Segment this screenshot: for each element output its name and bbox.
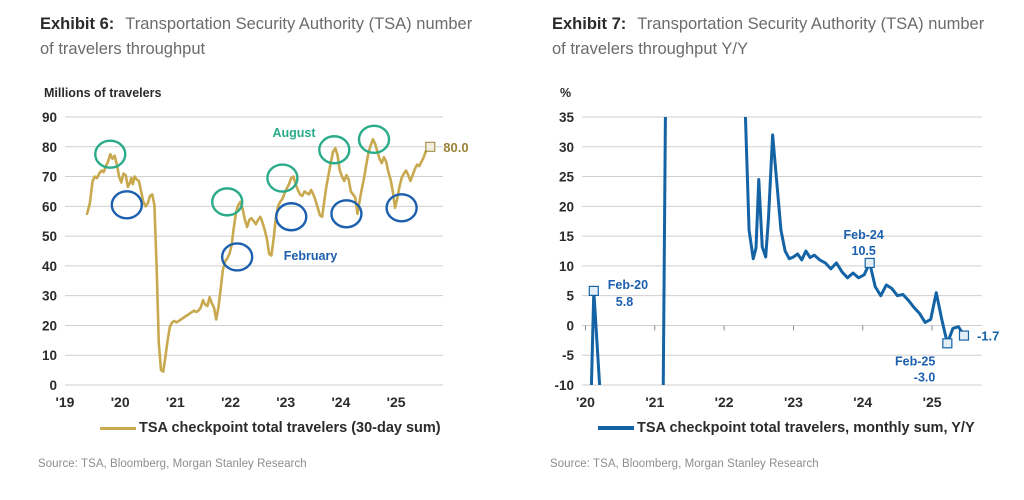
svg-text:0: 0 — [566, 318, 574, 333]
svg-text:10: 10 — [559, 259, 574, 274]
exhibit-6-august-markers — [95, 126, 389, 216]
exhibit-7-y-tick-labels: -10-505101520253035 — [554, 110, 574, 393]
exhibit-7-x-tick-labels: '20'21'22'23'24'25 — [576, 394, 942, 410]
exhibit-6-panel: Exhibit 6:Transportation Security Author… — [0, 0, 512, 500]
svg-text:'25: '25 — [923, 394, 942, 410]
svg-text:15: 15 — [559, 229, 575, 244]
exhibit-6-end-marker — [426, 142, 435, 151]
svg-text:'21: '21 — [645, 394, 664, 410]
exhibit-6-gridlines — [65, 117, 443, 385]
svg-text:0: 0 — [49, 378, 57, 393]
exhibit-7-data-line — [591, 57, 964, 402]
svg-text:'25: '25 — [387, 394, 406, 410]
svg-text:'20: '20 — [111, 394, 130, 410]
exhibit-7-end-value: -1.7 — [977, 329, 999, 344]
svg-text:30: 30 — [559, 140, 574, 155]
exhibit-6-data-line — [87, 139, 428, 371]
svg-text:'24: '24 — [853, 394, 872, 410]
svg-text:'21: '21 — [166, 394, 185, 410]
exhibit-7-legend-label: TSA checkpoint total travelers, monthly … — [637, 420, 975, 436]
exhibit-7-end-marker — [959, 331, 968, 340]
exhibit-7-source: Source: TSA, Bloomberg, Morgan Stanley R… — [550, 458, 819, 470]
exhibit-6-august-annotation: August — [272, 126, 316, 140]
svg-text:'22: '22 — [715, 394, 734, 410]
svg-text:80: 80 — [42, 140, 57, 155]
exhibit-7-legend: TSA checkpoint total travelers, monthly … — [598, 420, 975, 436]
exhibit-6-legend: TSA checkpoint total travelers (30-day s… — [100, 420, 441, 436]
svg-text:10.5: 10.5 — [852, 244, 876, 258]
svg-text:60: 60 — [42, 199, 57, 214]
exhibit-7-legend-swatch-icon — [598, 426, 634, 430]
exhibit-6-end-value: 80.0 — [443, 140, 468, 155]
svg-text:35: 35 — [559, 110, 575, 125]
exhibit-7-x-tick-marks — [585, 325, 932, 330]
svg-text:'23: '23 — [784, 394, 803, 410]
svg-text:40: 40 — [42, 259, 57, 274]
exhibit-6-legend-label: TSA checkpoint total travelers (30-day s… — [139, 420, 441, 436]
svg-text:30: 30 — [42, 289, 57, 304]
exhibit-7-panel: Exhibit 7:Transportation Security Author… — [512, 0, 1024, 500]
svg-text:5.8: 5.8 — [616, 295, 633, 309]
svg-text:20: 20 — [42, 318, 57, 333]
svg-text:10: 10 — [42, 348, 57, 363]
exhibit-6-source: Source: TSA, Bloomberg, Morgan Stanley R… — [38, 458, 307, 470]
svg-text:-3.0: -3.0 — [914, 370, 936, 384]
svg-text:Feb-25: Feb-25 — [895, 354, 935, 368]
exhibit-6-february-annotation: February — [284, 249, 338, 263]
svg-text:25: 25 — [559, 170, 575, 185]
svg-text:'19: '19 — [56, 394, 75, 410]
exhibit-6-y-tick-labels: 0102030405060708090 — [42, 110, 57, 393]
svg-text:5: 5 — [566, 289, 574, 304]
svg-text:'24: '24 — [331, 394, 350, 410]
svg-text:-10: -10 — [554, 378, 574, 393]
svg-text:20: 20 — [559, 199, 574, 214]
svg-text:Feb-20: Feb-20 — [608, 278, 648, 292]
svg-text:90: 90 — [42, 110, 57, 125]
chart-page: Exhibit 6:Transportation Security Author… — [0, 0, 1024, 500]
svg-text:-5: -5 — [562, 348, 574, 363]
svg-text:Feb-24: Feb-24 — [844, 228, 884, 242]
svg-text:'20: '20 — [576, 394, 595, 410]
exhibit-6-legend-swatch-icon — [100, 427, 136, 430]
svg-text:'22: '22 — [221, 394, 240, 410]
exhibit-7-callouts: Feb-205.8Feb-2410.5Feb-25-3.0 — [589, 228, 952, 384]
svg-text:'23: '23 — [276, 394, 295, 410]
svg-text:50: 50 — [42, 229, 57, 244]
exhibit-7-gridlines — [582, 117, 982, 385]
svg-text:70: 70 — [42, 170, 57, 185]
exhibit-6-x-tick-labels: '19'20'21'22'23'24'25 — [56, 394, 406, 410]
